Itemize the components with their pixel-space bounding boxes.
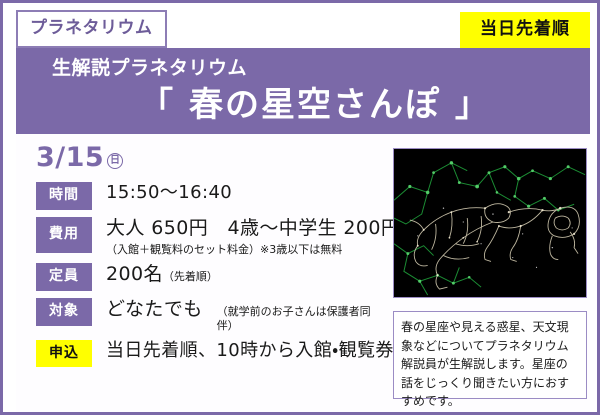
row-value-time-text: 15:50〜16:40 — [106, 182, 386, 205]
constellation-photo-graphic — [394, 149, 586, 297]
row-value-capacity: 200名 （先着順） — [92, 263, 386, 287]
event-date-value: 3/15 — [36, 142, 104, 173]
table-row: 時間 15:50〜16:40 — [36, 182, 386, 210]
row-value-time: 15:50〜16:40 — [92, 182, 386, 205]
row-label-fee: 費用 — [36, 217, 92, 253]
status-badge: 当日先着順 — [460, 12, 590, 48]
poster-root: プラネタリウム 当日先着順 生解説プラネタリウム 「 春の星空さんぽ 」 3/1… — [0, 0, 600, 415]
event-date: 3/15 日 — [36, 142, 123, 173]
row-note-fee: （入館＋観覧料のセット料金）※3歳以下は無料 — [106, 243, 400, 257]
constellation-photo — [393, 148, 587, 298]
row-value-audience-text: どなたでも — [106, 298, 203, 322]
row-value-fee: 大人 650円 4歳〜中学生 200円 （入館＋観覧料のセット料金）※3歳以下は… — [92, 217, 400, 257]
row-value-capacity-text: 200名 — [106, 263, 163, 287]
row-label-capacity: 定員 — [36, 263, 92, 291]
row-label-audience: 対象 — [36, 298, 92, 326]
category-tab: プラネタリウム — [16, 10, 167, 48]
row-label-application: 申込 — [36, 340, 92, 368]
table-row: 費用 大人 650円 4歳〜中学生 200円 （入館＋観覧料のセット料金）※3歳… — [36, 217, 386, 257]
event-title: 「 春の星空さんぽ 」 — [16, 77, 590, 126]
event-day-of-week: 日 — [107, 153, 123, 169]
row-label-time: 時間 — [36, 182, 92, 210]
row-note-capacity: （先着順） — [163, 270, 218, 284]
row-value-application-text: 当日先着順、10時から入館・観覧券販売 — [106, 340, 431, 363]
row-value-audience: どなたでも （就学前のお子さんは保護者同伴） — [92, 298, 386, 333]
body-area: 3/15 日 時間 15:50〜16:40 費用 大人 650円 4歳〜中学生 … — [16, 134, 590, 412]
header-tab-row: プラネタリウム 当日先着順 — [16, 10, 590, 48]
row-value-application: 当日先着順、10時から入館・観覧券販売 — [92, 340, 431, 363]
table-row: 対象 どなたでも （就学前のお子さんは保護者同伴） — [36, 298, 386, 333]
table-row: 申込 当日先着順、10時から入館・観覧券販売 — [36, 340, 386, 368]
event-subtitle: 生解説プラネタリウム — [52, 53, 247, 80]
description-box: 春の星座や見える惑星、天文現象などについてプラネタリウム解説員が生解説します。星… — [393, 311, 587, 399]
row-value-fee-text: 大人 650円 4歳〜中学生 200円 — [106, 217, 400, 241]
row-note-audience: （就学前のお子さんは保護者同伴） — [217, 305, 386, 333]
table-row: 定員 200名 （先着順） — [36, 263, 386, 291]
info-table: 時間 15:50〜16:40 費用 大人 650円 4歳〜中学生 200円 （入… — [36, 182, 386, 367]
title-band: 生解説プラネタリウム 「 春の星空さんぽ 」 — [16, 48, 590, 134]
